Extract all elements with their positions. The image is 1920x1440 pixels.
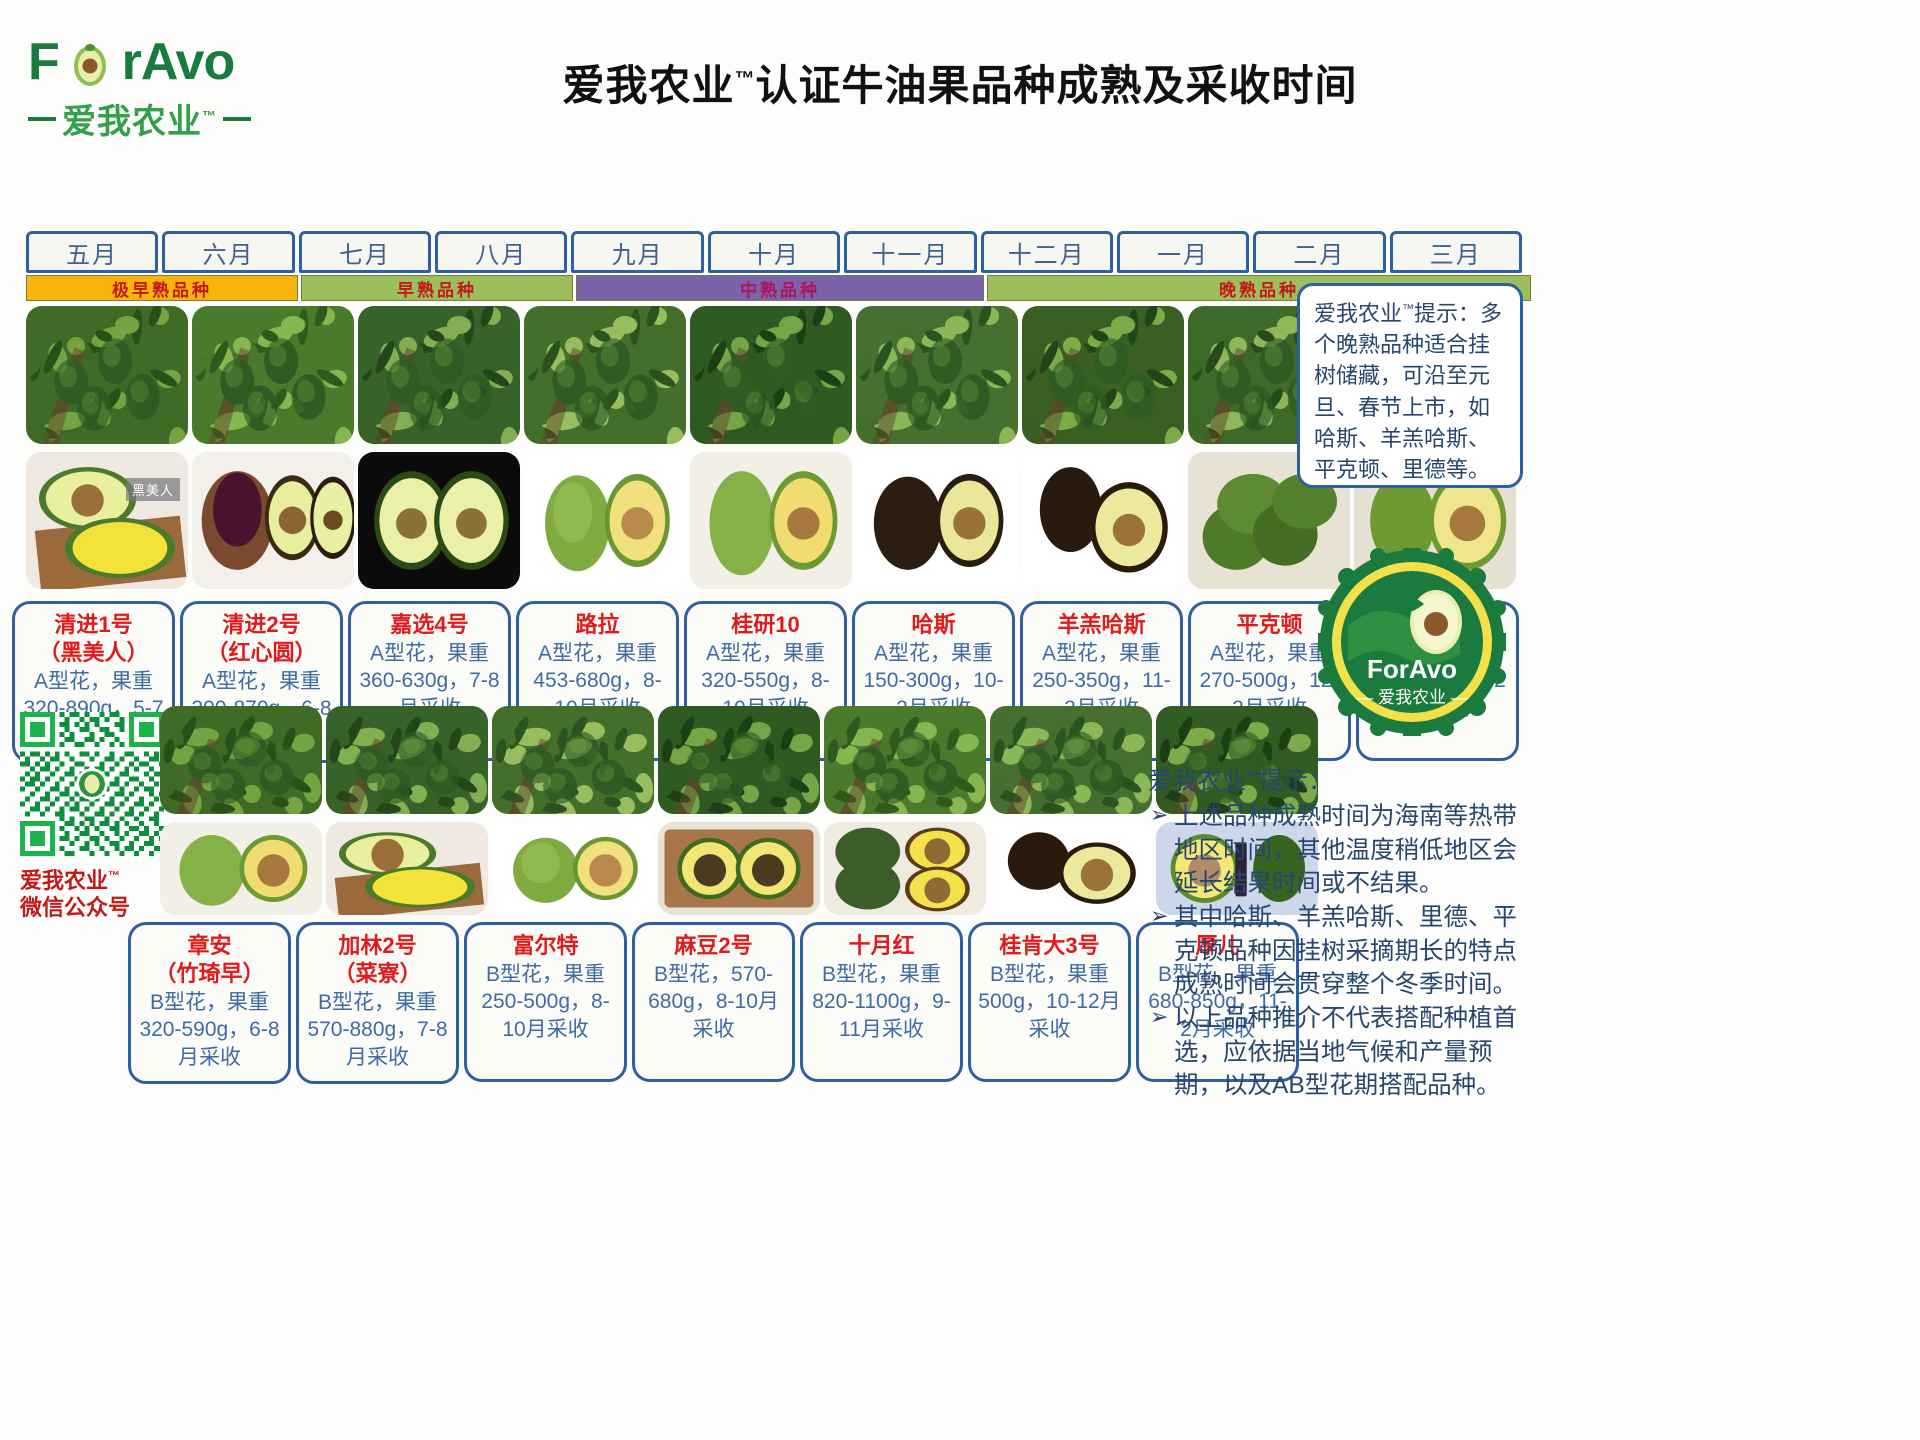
title-trademark: ™ bbox=[735, 68, 756, 90]
variety-name: 桂肯大3号 bbox=[977, 933, 1122, 959]
row1-tree-photo-strip bbox=[26, 306, 1516, 444]
foravo-seal-badge: ForAvo — 爱我农业 — bbox=[1318, 548, 1506, 736]
tip-top-trademark: ™ bbox=[1402, 302, 1414, 316]
trademark-mark: ™ bbox=[202, 108, 217, 124]
variety-name: 哈斯 bbox=[861, 612, 1006, 638]
fruit-photo-lambhass bbox=[1022, 452, 1184, 589]
month-cell-4: 八月 bbox=[435, 231, 567, 273]
page-title: 爱我农业™认证牛油果品种成熟及采收时间 bbox=[400, 52, 1520, 113]
row2-fruit-photo-strip bbox=[160, 822, 1318, 915]
svg-text:— 爱我农业 —: — 爱我农业 — bbox=[1356, 688, 1467, 707]
variety-name: 十月红 bbox=[809, 933, 954, 959]
variety-detail: B型花，果重250-500g，8-10月采收 bbox=[473, 961, 618, 1043]
season-bar-1: 极早熟品种 bbox=[26, 275, 298, 301]
month-cell-11: 三月 bbox=[1390, 231, 1522, 273]
brand-logo: F rAvo 爱我农业™ bbox=[28, 32, 288, 147]
fruit-photo-qingjin2 bbox=[192, 452, 354, 589]
variety-name: 富尔特 bbox=[473, 933, 618, 959]
tip-box-growing-notes: 爱我农业™提示： ➢上述品种成熟时间为海南等热带地区时间，其他温度稍低地区会延长… bbox=[1148, 765, 1540, 1103]
qr-trademark: ™ bbox=[108, 869, 120, 883]
tree-photo-madou2 bbox=[658, 706, 820, 814]
logo-chinese-label: 爱我农业™ bbox=[62, 94, 217, 143]
fruit-photo-lula bbox=[524, 452, 686, 589]
row2-tree-photo-strip bbox=[160, 706, 1318, 814]
tree-photo-hass bbox=[856, 306, 1018, 444]
month-cell-6: 十月 bbox=[708, 231, 840, 273]
month-cell-8: 十二月 bbox=[981, 231, 1113, 273]
variety-name: 嘉选4号 bbox=[357, 612, 502, 638]
avocado-icon bbox=[70, 41, 110, 87]
variety-detail: B型花，果重320-590g，6-8月采收 bbox=[137, 989, 282, 1071]
variety-card-2: 加林2号（菜寮）B型花，果重570-880g，7-8月采收 bbox=[296, 922, 459, 1084]
month-cell-10: 二月 bbox=[1253, 231, 1385, 273]
wechat-qr-code bbox=[20, 712, 164, 856]
fruit-photo-madou2 bbox=[658, 822, 820, 915]
season-bar-3: 中熟品种 bbox=[576, 275, 984, 301]
qr-caption: 爱我农业™微信公众号 bbox=[20, 868, 170, 922]
logo-word-pre: F bbox=[28, 33, 59, 91]
tip-bullet-text: 以上品种推介不代表搭配种植首选，应依据当地气候和产量预期，以及AB型花期搭配品种… bbox=[1174, 1005, 1517, 1099]
fruit-photo-guikenda3 bbox=[990, 822, 1152, 915]
variety-card-3: 富尔特B型花，果重250-500g，8-10月采收 bbox=[464, 922, 627, 1082]
tip-bullet-text: 其中哈斯、羊羔哈斯、里德、平克顿品种因挂树采摘期长的特点成熟时间会贯穿整个冬季时… bbox=[1174, 904, 1517, 998]
page-header: F rAvo 爱我农业™ 爱我农业™认证牛油果品种成熟及采收时间 bbox=[0, 0, 1920, 175]
fruit-photo-jialin2 bbox=[326, 822, 488, 915]
tree-photo-zhangan bbox=[160, 706, 322, 814]
svg-text:ForAvo: ForAvo bbox=[1367, 654, 1457, 684]
tip-bottom-trademark: ™ bbox=[1246, 768, 1259, 783]
tree-photo-qingjin2 bbox=[192, 306, 354, 444]
tip-box-late-storage: 爱我农业™提示：多个晚熟品种适合挂树储藏，可沿至元旦、春节上市，如哈斯、羊羔哈斯… bbox=[1297, 283, 1523, 488]
variety-card-6: 桂肯大3号B型花，果重500g，10-12月采收 bbox=[968, 922, 1131, 1082]
photo-caption: 黑美人 bbox=[126, 478, 180, 501]
variety-name: 羊羔哈斯 bbox=[1029, 612, 1174, 638]
tree-photo-lambhass bbox=[1022, 306, 1184, 444]
month-cell-9: 一月 bbox=[1117, 231, 1249, 273]
tip-bullet-1: ➢上述品种成熟时间为海南等热带地区时间，其他温度稍低地区会延长结果时间或不结果。 bbox=[1148, 800, 1540, 900]
month-cell-2: 六月 bbox=[162, 231, 294, 273]
variety-name: 路拉 bbox=[525, 612, 670, 638]
variety-detail: B型花，570-680g，8-10月采收 bbox=[641, 961, 786, 1043]
logo-right-rule bbox=[223, 117, 251, 121]
variety-card-5: 十月红B型花，果重820-1100g，9-11月采收 bbox=[800, 922, 963, 1082]
month-cell-1: 五月 bbox=[26, 231, 158, 273]
variety-name: 桂研10 bbox=[693, 612, 838, 638]
logo-word-mid: r bbox=[122, 33, 141, 91]
variety-name: 麻豆2号 bbox=[641, 933, 786, 959]
variety-alias: （红心圆） bbox=[189, 640, 334, 666]
tree-photo-fuerte bbox=[492, 706, 654, 814]
fruit-photo-zhangan bbox=[160, 822, 322, 915]
month-cell-5: 九月 bbox=[571, 231, 703, 273]
month-cell-3: 七月 bbox=[299, 231, 431, 273]
fruit-photo-qingjin1: 黑美人 bbox=[26, 452, 188, 589]
tree-photo-jiaxuan4 bbox=[358, 306, 520, 444]
variety-detail: B型花，果重570-880g，7-8月采收 bbox=[305, 989, 450, 1071]
tip-bottom-heading: 爱我农业™提示： bbox=[1148, 765, 1540, 798]
variety-alias: （菜寮） bbox=[305, 961, 450, 987]
bullet-arrow-icon: ➢ bbox=[1150, 901, 1168, 931]
tip-top-body: 多个晚熟品种适合挂树储藏，可沿至元旦、春节上市，如哈斯、羊羔哈斯、平克顿、里德等… bbox=[1314, 301, 1502, 482]
variety-card-1: 章安（竹琦早）B型花，果重320-590g，6-8月采收 bbox=[128, 922, 291, 1084]
variety-name: 章安 bbox=[137, 933, 282, 959]
fruit-photo-shiyuehong bbox=[824, 822, 986, 915]
tree-photo-qingjin1 bbox=[26, 306, 188, 444]
row1-fruit-photo-strip: 黑美人 bbox=[26, 452, 1516, 589]
variety-name: 清进2号 bbox=[189, 612, 334, 638]
tree-photo-lula bbox=[524, 306, 686, 444]
logo-left-rule bbox=[28, 117, 56, 121]
season-bar-2: 早熟品种 bbox=[301, 275, 573, 301]
variety-name: 加林2号 bbox=[305, 933, 450, 959]
tip-bullet-text: 上述品种成熟时间为海南等热带地区时间，其他温度稍低地区会延长结果时间或不结果。 bbox=[1174, 803, 1517, 897]
fruit-photo-hass bbox=[856, 452, 1018, 589]
row2-variety-cards: 章安（竹琦早）B型花，果重320-590g，6-8月采收加林2号（菜寮）B型花，… bbox=[128, 922, 1299, 1084]
variety-alias: （黑美人） bbox=[21, 640, 166, 666]
variety-detail: B型花，果重500g，10-12月采收 bbox=[977, 961, 1122, 1043]
fruit-photo-fuerte bbox=[492, 822, 654, 915]
variety-alias: （竹琦早） bbox=[137, 961, 282, 987]
tip-bottom-list: ➢上述品种成熟时间为海南等热带地区时间，其他温度稍低地区会延长结果时间或不结果。… bbox=[1148, 800, 1540, 1102]
tree-photo-shiyuehong bbox=[824, 706, 986, 814]
variety-card-4: 麻豆2号B型花，570-680g，8-10月采收 bbox=[632, 922, 795, 1082]
bullet-arrow-icon: ➢ bbox=[1150, 1002, 1168, 1032]
bullet-arrow-icon: ➢ bbox=[1150, 800, 1168, 830]
fruit-photo-jiaxuan4 bbox=[358, 452, 520, 589]
month-header-row: 五月六月七月八月九月十月十一月十二月一月二月三月 bbox=[26, 231, 1522, 273]
tree-photo-guiyan10 bbox=[690, 306, 852, 444]
logo-chinese-row: 爱我农业™ bbox=[28, 94, 288, 143]
logo-wordmark: F rAvo bbox=[28, 32, 288, 92]
variety-detail: B型花，果重820-1100g，9-11月采收 bbox=[809, 961, 954, 1043]
wechat-qr-block: 爱我农业™微信公众号 bbox=[20, 712, 170, 922]
month-cell-7: 十一月 bbox=[844, 231, 976, 273]
tree-photo-guikenda3 bbox=[990, 706, 1152, 814]
tip-bullet-2: ➢其中哈斯、羊羔哈斯、里德、平克顿品种因挂树采摘期长的特点成熟时间会贯穿整个冬季… bbox=[1148, 901, 1540, 1001]
logo-word-post: Avo bbox=[141, 33, 234, 91]
tip-bullet-3: ➢以上品种推介不代表搭配种植首选，应依据当地气候和产量预期，以及AB型花期搭配品… bbox=[1148, 1002, 1540, 1102]
variety-name: 清进1号 bbox=[21, 612, 166, 638]
tree-photo-jialin2 bbox=[326, 706, 488, 814]
fruit-photo-guiyan10 bbox=[690, 452, 852, 589]
